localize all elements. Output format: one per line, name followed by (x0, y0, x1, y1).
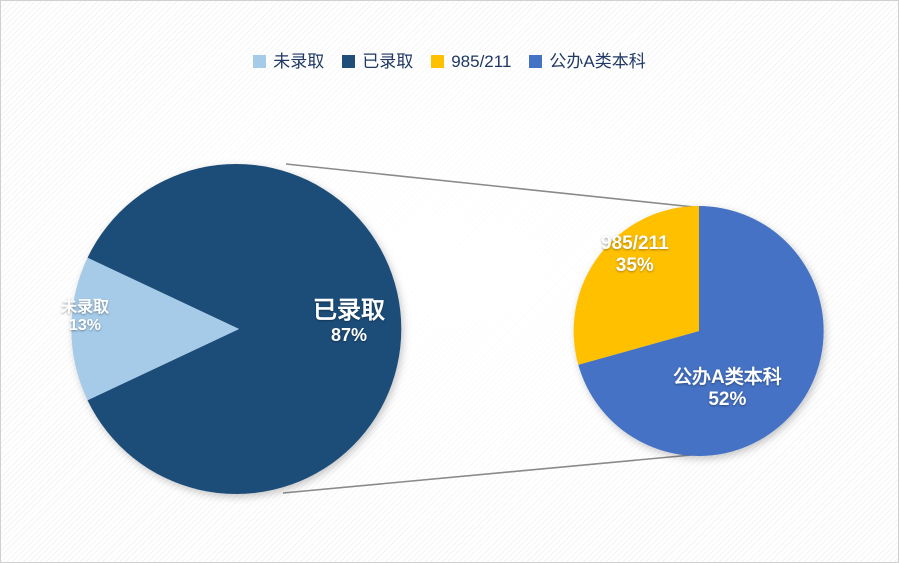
secondary-pie (574, 206, 824, 456)
chart-canvas: 未录取 已录取 985/211 公办A类本科 (0, 0, 899, 563)
connector-line-bottom (283, 453, 713, 493)
pie-of-pie-graphic (1, 1, 899, 563)
primary-pie (71, 164, 401, 494)
chart-plot-area: 未录取 13% 已录取 87% 985/211 35% 公办A类本科 52% (1, 1, 898, 562)
connector-line-top (286, 164, 713, 209)
